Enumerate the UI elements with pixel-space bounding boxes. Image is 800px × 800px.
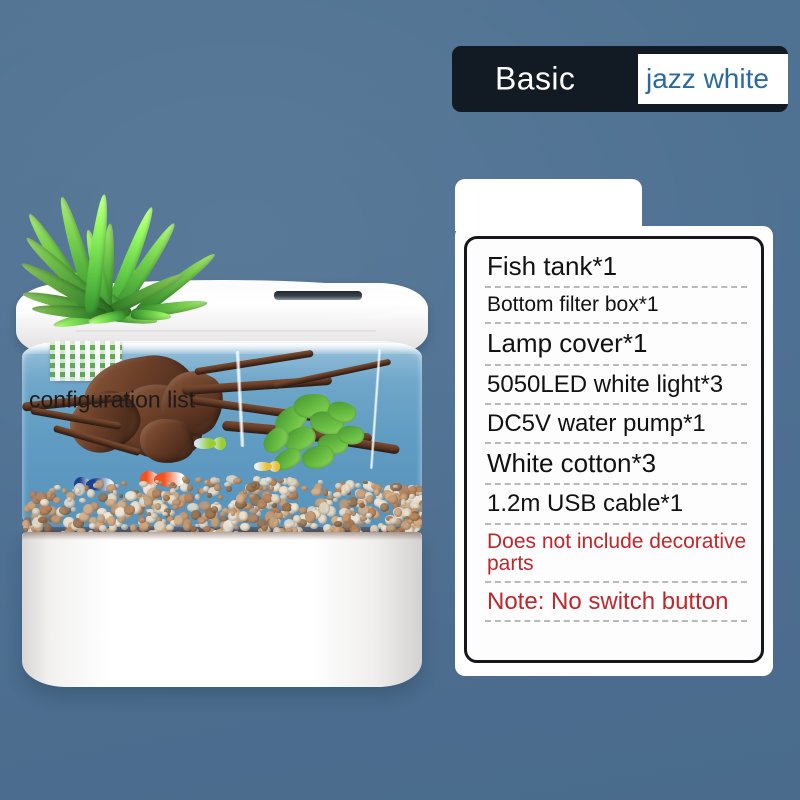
gravel-pebble [99,525,107,531]
gravel-pebble [195,494,200,500]
gravel-pebble [195,477,202,483]
gravel-pebble [159,481,163,485]
gravel-pebble [170,488,176,493]
gravel-pebble [95,480,105,489]
gravel-pebble [276,509,280,513]
gravel-pebble [240,523,250,532]
gravel-pebble [342,513,351,523]
gravel-pebble [409,494,415,499]
gravel-pebble [214,484,221,490]
gravel-pebble [251,482,257,488]
gravel-pebble [184,493,194,503]
gravel-pebble [183,522,192,531]
driftwood-branch [273,359,392,390]
gravel-substrate [22,475,422,537]
gravel-pebble [394,508,403,517]
config-list-item: DC5V water pump*1 [467,411,761,436]
config-list-item: 1.2m USB cable*1 [467,491,761,516]
gravel-pebble [355,483,361,488]
tank-white-base [22,532,422,687]
gravel-pebble [122,498,127,502]
gravel-pebble [163,495,170,502]
yellow-guppy [254,461,280,472]
gravel-pebble [271,494,280,503]
gravel-pebble [289,494,293,499]
configuration-list-items: Fish tank*1Bottom filter box*1Lamp cover… [464,236,764,663]
gravel-pebble [226,486,233,492]
variant-chip[interactable]: jazz white [638,54,788,104]
config-list-separator [485,620,747,622]
gravel-pebble [54,485,61,490]
gravel-pebble [147,512,151,515]
lid-vent-slot [274,291,362,300]
config-list-separator [485,442,747,444]
gravel-pebble [174,515,184,526]
gravel-pebble [333,498,337,501]
gravel-pebble [203,486,210,492]
config-list-separator [485,483,747,485]
gravel-pebble [121,481,127,487]
green-guppy [194,437,226,450]
product-image-canvas: Basic jazz white configuration list Fish… [0,0,800,800]
gravel-pebble [233,478,241,484]
gravel-pebble [305,511,316,523]
base-top-shadow [22,532,422,540]
gravel-pebble [301,486,307,491]
gravel-pebble [207,493,212,499]
gravel-pebble [79,498,86,503]
gravel-pebble [389,518,397,524]
config-list-item: 5050LED white light*3 [467,372,761,397]
gravel-pebble [71,507,76,512]
gravel-pebble [291,503,299,512]
gravel-pebble [311,488,322,497]
gravel-pebble [124,505,135,514]
gravel-pebble [239,511,248,521]
gravel-pebble [386,525,395,532]
fish-tank-product-photo [10,145,435,690]
config-list-item: Bottom filter box*1 [467,294,761,316]
config-list-separator [485,322,747,324]
lid-seam-line [76,330,376,332]
config-list-separator [485,364,747,366]
gravel-pebble [288,486,296,492]
gravel-pebble [195,524,199,527]
config-list-separator [485,581,747,583]
gravel-pebble [347,500,352,506]
gravel-pebble [187,485,192,490]
gravel-pebble [247,514,259,523]
gravel-pebble [53,497,61,504]
gravel-pebble [270,486,275,491]
config-list-separator [485,286,747,288]
gravel-pebble [218,495,223,500]
gravel-pebble [130,524,137,531]
gravel-pebble [228,503,235,509]
gravel-pebble [211,517,221,527]
variant-banner: Basic jazz white [452,46,788,112]
gravel-pebble [211,506,218,512]
gravel-pebble [366,495,374,504]
fish-body [254,462,272,471]
gravel-pebble [171,482,175,486]
gravel-pebble [144,498,153,506]
gravel-pebble [380,503,389,511]
config-list-item: Lamp cover*1 [467,330,761,357]
config-list-separator [485,403,747,405]
gravel-pebble [113,490,118,495]
fish-body [194,438,216,449]
configuration-list-title: configuration list [29,387,195,414]
gravel-pebble [261,524,268,530]
configuration-list-tab [455,179,642,231]
gravel-pebble [87,489,95,497]
gravel-pebble [155,503,161,509]
gravel-pebble [283,511,290,517]
gravel-pebble [47,494,52,499]
gravel-pebble [89,523,96,529]
banner-title: Basic [495,61,575,98]
variant-label: jazz white [638,63,769,95]
config-list-item: Fish tank*1 [467,253,761,280]
gravel-pebble [401,502,405,506]
config-list-separator [485,523,747,525]
gravel-pebble [294,494,299,498]
gravel-pebble [265,477,272,482]
configuration-list-card: Fish tank*1Bottom filter box*1Lamp cover… [455,226,773,676]
gravel-pebble [236,494,245,504]
config-list-item: Does not include decorative parts [467,531,761,576]
config-list-item: Note: No switch button [467,589,761,614]
gravel-pebble [278,478,284,483]
gravel-pebble [83,504,94,515]
config-list-item: White cotton*3 [467,450,761,477]
gravel-pebble [75,488,82,494]
gravel-pebble [341,490,347,496]
gravel-pebble [280,494,287,500]
gravel-pebble [46,506,52,512]
gravel-pebble [323,489,328,495]
gravel-pebble [318,480,323,485]
gravel-pebble [148,526,153,529]
gravel-pebble [162,512,167,516]
gravel-pebble [388,495,399,503]
gravel-pebble [220,511,226,516]
gravel-pebble [172,505,179,511]
